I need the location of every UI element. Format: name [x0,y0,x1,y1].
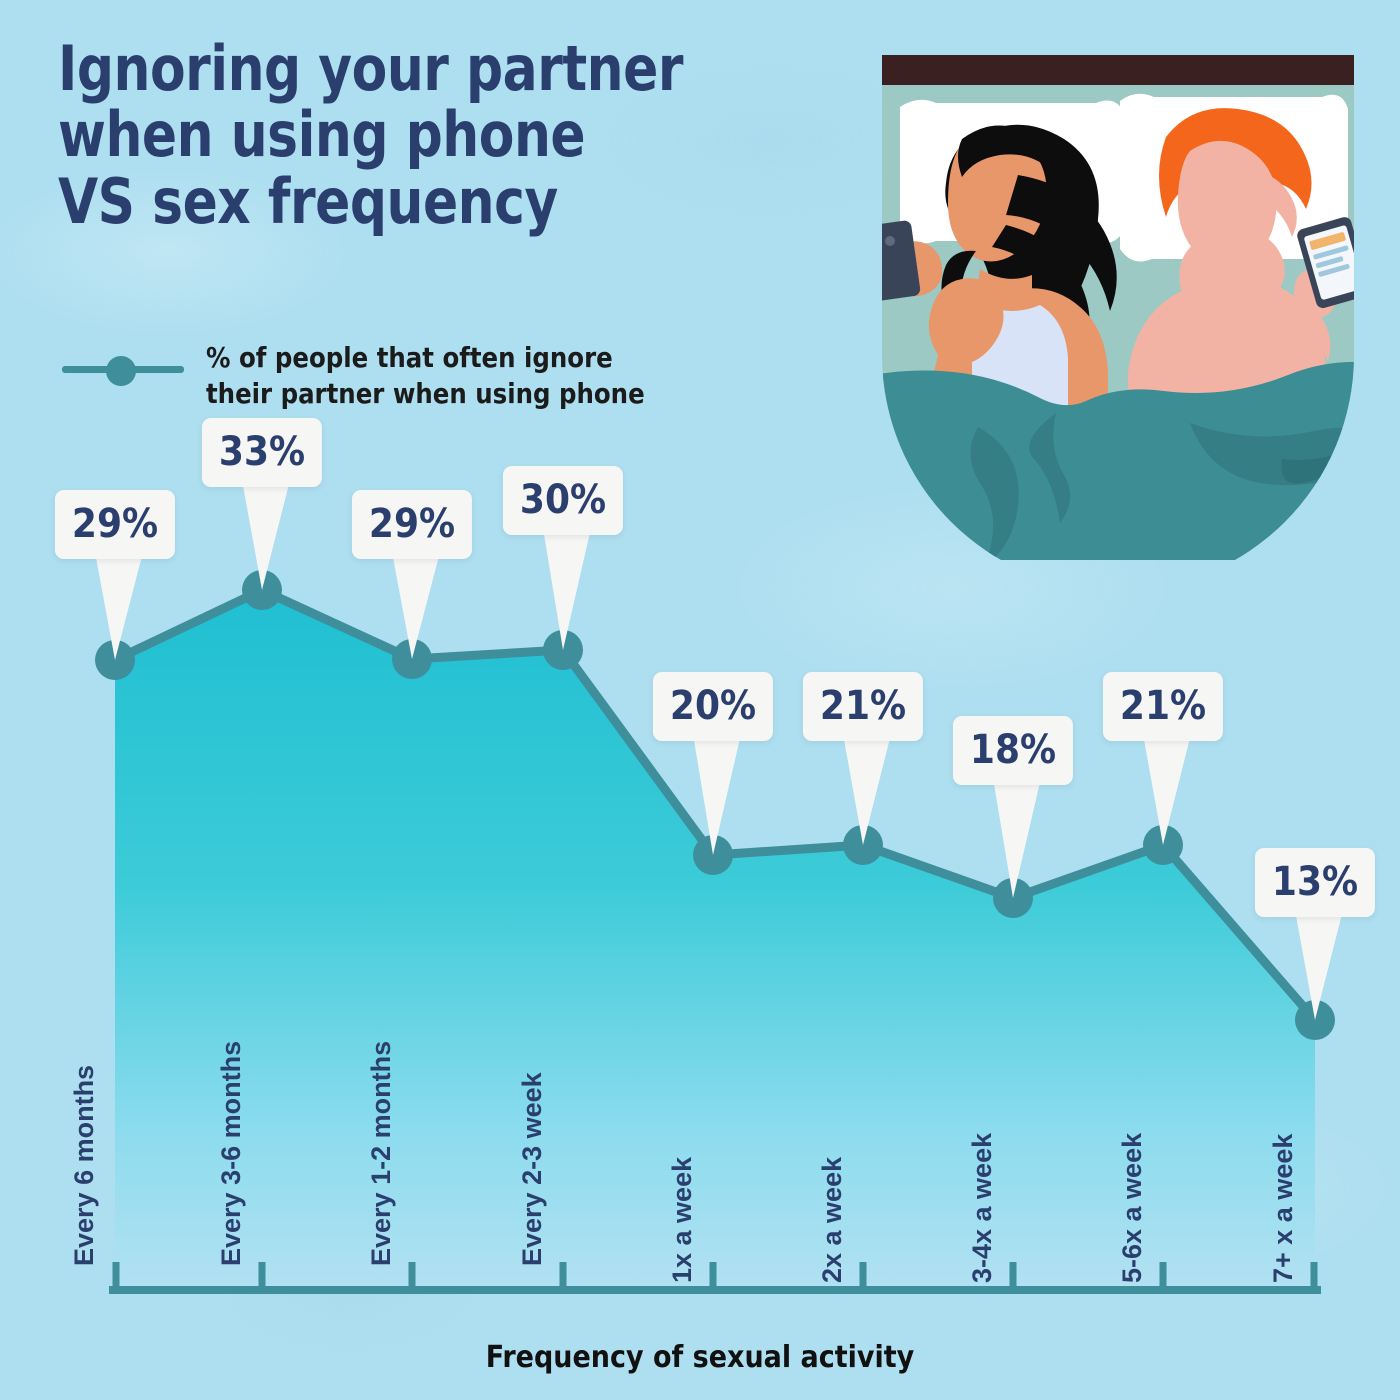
data-point-marker [843,825,883,865]
title-line-1: Ignoring your partner [58,36,802,102]
x-axis-label: 3-4x a week [967,1133,998,1283]
couple-in-bed-illustration [868,55,1368,560]
title-line-2: when using phone [58,102,802,168]
data-point-markers [95,570,1335,1040]
chart-legend: % of people that often ignore their part… [62,340,658,412]
x-axis-label: 2x a week [817,1157,848,1283]
data-point-marker [693,835,733,875]
x-axis-label: Every 2-3 week [517,1072,548,1266]
data-label: 21% [1103,672,1223,741]
series-line [115,590,1315,1020]
data-label: 20% [653,672,773,741]
legend-series-marker [62,350,184,388]
title-line-3: VS sex frequency [58,169,802,235]
data-label: 30% [503,466,623,535]
data-point-marker [1295,1000,1335,1040]
x-axis-label: Every 3-6 months [216,1041,247,1266]
legend-dot-icon [106,356,136,386]
data-label: 29% [55,490,175,559]
legend-label: % of people that often ignore their part… [206,340,645,412]
data-point-marker [392,639,432,679]
x-axis-title: Frequency of sexual activity [0,1340,1400,1375]
data-label: 18% [953,716,1073,785]
data-point-marker [543,630,583,670]
data-label: 33% [202,418,322,487]
data-label: 21% [803,672,923,741]
data-point-marker [993,878,1033,918]
data-label: 29% [352,490,472,559]
data-point-marker [1143,825,1183,865]
page-title: Ignoring your partner when using phone V… [58,36,802,235]
data-label: 13% [1255,848,1375,917]
data-point-marker [95,640,135,680]
x-axis-label: 7+ x a week [1268,1134,1299,1283]
data-point-marker [242,570,282,610]
x-axis-label: 5-6x a week [1117,1133,1148,1283]
tooltip-tails [95,480,1343,1020]
x-axis-label: Every 6 months [69,1065,100,1266]
x-axis-label: 1x a week [667,1157,698,1283]
x-axis-label: Every 1-2 months [366,1041,397,1266]
